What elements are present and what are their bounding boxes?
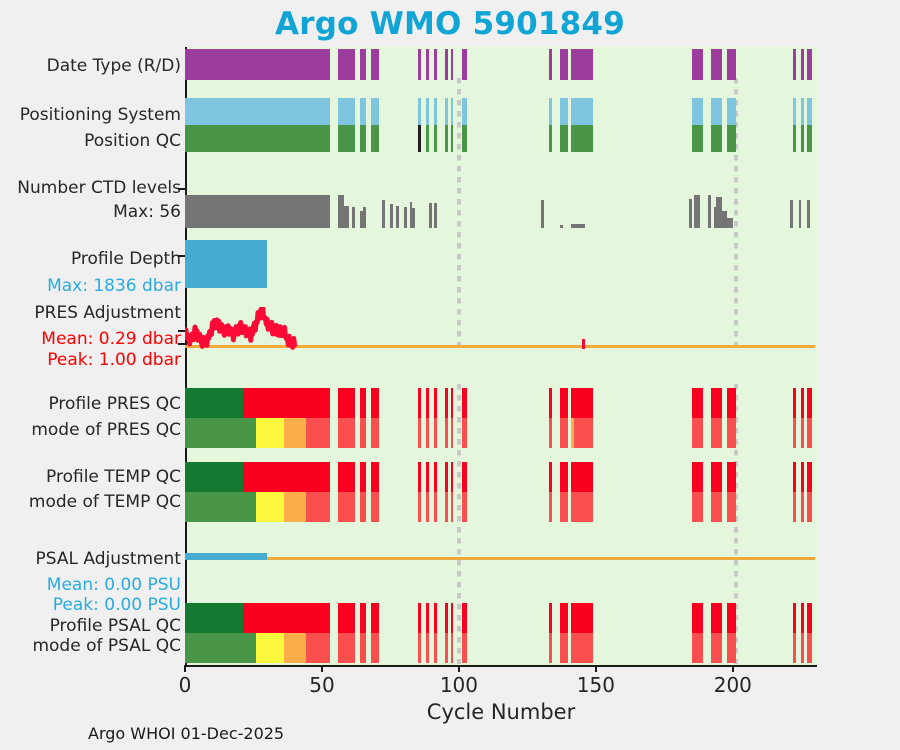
pres-qc-profile-bar (462, 388, 467, 418)
position-qc-bar (434, 125, 437, 152)
row-label-profile-pres-qc: Profile PRES QC (48, 394, 181, 414)
temp-qc-profile-bar (434, 462, 437, 492)
positioning-system-bar (549, 98, 552, 125)
psal-qc-profile-bar (560, 603, 568, 633)
psal-qc-profile-bar (711, 603, 722, 633)
row-label-mode-psal-qc: mode of PSAL QC (32, 636, 181, 656)
pres-qc-mode-bar (793, 418, 796, 448)
position-qc-bar (426, 125, 429, 152)
pres-qc-profile-bar (560, 388, 568, 418)
temp-qc-profile-bar (371, 462, 379, 492)
date-type-bar (371, 49, 379, 80)
psal-qc-profile-bar (451, 603, 454, 633)
psal-qc-profile-bar (338, 603, 354, 633)
row-label-mode-temp-qc: mode of TEMP QC (29, 492, 181, 512)
position-qc-bar (571, 125, 593, 152)
positioning-system-bar (801, 98, 804, 125)
position-qc-bar (451, 125, 454, 152)
temp-qc-profile-bar (185, 462, 243, 492)
positioning-system-bar (711, 98, 722, 125)
psal-qc-mode-bar (801, 633, 804, 663)
psal-qc-profile-bar (571, 603, 593, 633)
temp-qc-profile-bar (445, 462, 448, 492)
date-type-bar (692, 49, 703, 80)
pres-qc-mode-bar (549, 418, 552, 448)
positioning-system-bar (451, 98, 454, 125)
date-type-bar (418, 49, 421, 80)
ctd-levels-bar (344, 206, 349, 228)
temp-qc-mode-bar (434, 492, 437, 522)
date-type-bar (549, 49, 552, 80)
position-qc-bar (711, 125, 722, 152)
pres-qc-profile-bar (418, 388, 421, 418)
date-type-bar (434, 49, 437, 80)
row-label-pres-adjustment: PRES Adjustment (34, 303, 181, 323)
temp-qc-mode-bar (727, 492, 735, 522)
position-qc-bar (727, 125, 735, 152)
pres-qc-mode-bar (692, 418, 703, 448)
pres-qc-profile-bar (451, 388, 454, 418)
date-type-bar (451, 49, 454, 80)
x-tick (458, 665, 460, 672)
psal-qc-mode-bar (185, 633, 256, 663)
pres-qc-mode-bar (574, 418, 593, 448)
ctd-levels-bar (412, 208, 415, 228)
row-label-pres-peak: Peak: 1.00 dbar (47, 350, 181, 370)
date-type-bar (801, 49, 804, 80)
row-label-date-type: Date Type (R/D) (47, 56, 181, 76)
pres-qc-mode-bar (256, 418, 283, 448)
pres-qc-mode-bar (284, 418, 306, 448)
pres-qc-mode-bar (338, 418, 354, 448)
date-type-bar (462, 49, 467, 80)
position-qc-bar (801, 125, 804, 152)
psal-qc-mode-bar (284, 633, 306, 663)
date-type-bar (445, 49, 448, 80)
pres-qc-mode-bar (306, 418, 331, 448)
date-type-bar (727, 49, 735, 80)
temp-qc-profile-bar (338, 462, 354, 492)
psal-qc-mode-bar (434, 633, 437, 663)
pres-qc-mode-bar (807, 418, 812, 448)
psal-adjustment-trace (185, 553, 267, 560)
positioning-system-bar (560, 98, 568, 125)
pres-qc-mode-bar (727, 418, 735, 448)
temp-qc-profile-bar (462, 462, 467, 492)
x-tick-label: 200 (714, 673, 752, 697)
psal-qc-profile-bar (462, 603, 467, 633)
temp-qc-mode-bar (560, 492, 568, 522)
psal-qc-mode-bar (418, 633, 421, 663)
ctd-levels-bar (807, 200, 810, 228)
pres-qc-profile-bar (692, 388, 703, 418)
temp-qc-mode-bar (185, 492, 256, 522)
pres-qc-mode-bar (560, 418, 568, 448)
x-tick-label: 150 (577, 673, 615, 697)
temp-qc-profile-bar (360, 462, 365, 492)
psal-qc-profile-bar (807, 603, 812, 633)
position-qc-bar (462, 125, 467, 152)
temp-qc-profile-bar (426, 462, 429, 492)
date-type-bar (560, 49, 568, 80)
ctd-levels-bar (390, 204, 393, 229)
ctd-levels-bar (694, 195, 699, 228)
positioning-system-bar (692, 98, 703, 125)
pres-qc-profile-bar (727, 388, 735, 418)
ctd-levels-bar (396, 206, 399, 228)
ctd-levels-bar (799, 200, 802, 228)
pres-qc-profile-bar (371, 388, 379, 418)
temp-qc-profile-bar (560, 462, 568, 492)
psal-zero-line (185, 557, 815, 560)
pres-qc-profile-bar (434, 388, 437, 418)
positioning-system-bar (434, 98, 437, 125)
temp-qc-profile-bar (571, 462, 593, 492)
psal-qc-mode-bar (445, 633, 448, 663)
row-label-positioning-system: Positioning System (20, 105, 181, 125)
ctd-levels-bar (363, 207, 366, 228)
positioning-system-bar (571, 98, 593, 125)
temp-qc-profile-bar (793, 462, 796, 492)
positioning-system-bar (371, 98, 379, 125)
psal-qc-mode-bar (727, 633, 735, 663)
ctd-levels-bar (404, 207, 407, 228)
row-label-profile-depth-max: Max: 1836 dbar (47, 276, 181, 296)
psal-qc-mode-bar (692, 633, 703, 663)
temp-qc-mode-bar (451, 492, 454, 522)
guide-line-cycle-100-lower (457, 384, 461, 664)
ctd-levels-bar (571, 224, 585, 228)
x-tick (184, 665, 186, 672)
profile-depth-bar (185, 240, 267, 288)
temp-qc-mode-bar (549, 492, 552, 522)
x-tick-label: 0 (179, 673, 192, 697)
pres-qc-mode-bar (426, 418, 429, 448)
pres-qc-profile-bar (793, 388, 796, 418)
ctd-levels-bar (689, 199, 692, 228)
psal-qc-profile-bar (801, 603, 804, 633)
date-type-bar (338, 49, 354, 80)
row-label-psal-mean: Mean: 0.00 PSU (47, 575, 181, 595)
pres-qc-mode-bar (445, 418, 448, 448)
row-label-pres-mean: Mean: 0.29 dbar (41, 329, 181, 349)
positioning-system-bar (418, 98, 421, 125)
positioning-system-bar (445, 98, 448, 125)
temp-qc-mode-bar (306, 492, 331, 522)
date-type-bar (185, 49, 330, 80)
psal-qc-profile-bar (243, 603, 331, 633)
temp-qc-mode-bar (360, 492, 365, 522)
position-qc-bar (692, 125, 703, 152)
positioning-system-bar (727, 98, 735, 125)
date-type-bar (571, 49, 593, 80)
psal-qc-mode-bar (360, 633, 365, 663)
figure-canvas: Argo WMO 5901849 Date Type (R/D)Position… (0, 0, 900, 750)
temp-qc-profile-bar (418, 462, 421, 492)
psal-qc-profile-bar (426, 603, 429, 633)
x-axis-title: Cycle Number (185, 700, 817, 724)
pres-qc-profile-bar (571, 388, 593, 418)
psal-qc-mode-bar (462, 633, 467, 663)
positioning-system-bar (462, 98, 467, 125)
temp-qc-mode-bar (426, 492, 429, 522)
psal-qc-mode-bar (306, 633, 331, 663)
row-label-position-qc: Position QC (84, 131, 181, 151)
pres-qc-profile-bar (807, 388, 812, 418)
position-qc-bar (360, 125, 365, 152)
pres-adjustment-outlier (582, 339, 585, 349)
position-qc-bar (185, 125, 330, 152)
positioning-system-bar (807, 98, 812, 125)
row-label-psal-peak: Peak: 0.00 PSU (53, 595, 181, 615)
position-qc-bar (549, 125, 552, 152)
psal-qc-profile-bar (692, 603, 703, 633)
ctd-levels-bar (382, 200, 385, 228)
date-type-bar (807, 49, 812, 80)
pres-qc-profile-bar (801, 388, 804, 418)
pres-qc-profile-bar (185, 388, 243, 418)
psal-qc-mode-bar (256, 633, 283, 663)
figure-footer: Argo WHOI 01-Dec-2025 (88, 724, 284, 743)
temp-qc-profile-bar (801, 462, 804, 492)
ctd-levels-bar (790, 200, 793, 228)
date-type-bar (360, 49, 365, 80)
x-tick (321, 665, 323, 672)
pres-adjustment-trace (185, 307, 815, 377)
temp-qc-mode-bar (692, 492, 703, 522)
temp-qc-profile-bar (807, 462, 812, 492)
pres-qc-profile-bar (360, 388, 365, 418)
pres-qc-profile-bar (426, 388, 429, 418)
row-label-number-ctd-max: Max: 56 (113, 202, 181, 222)
position-qc-flag-bar (418, 125, 421, 152)
temp-qc-mode-bar (793, 492, 796, 522)
y-axis-tick (178, 188, 186, 190)
row-label-profile-temp-qc: Profile TEMP QC (46, 467, 181, 487)
positioning-system-bar (338, 98, 354, 125)
pres-qc-profile-bar (549, 388, 552, 418)
psal-qc-profile-bar (727, 603, 735, 633)
x-axis-line (185, 665, 817, 667)
temp-qc-profile-bar (692, 462, 703, 492)
temp-qc-profile-bar (549, 462, 552, 492)
temp-qc-mode-bar (338, 492, 354, 522)
psal-qc-profile-bar (418, 603, 421, 633)
pres-qc-mode-bar (360, 418, 365, 448)
temp-qc-mode-bar (462, 492, 467, 522)
pres-qc-mode-bar (711, 418, 722, 448)
row-label-profile-psal-qc: Profile PSAL QC (50, 616, 181, 636)
ctd-levels-bar (541, 200, 544, 228)
row-label-psal-adjustment: PSAL Adjustment (36, 549, 181, 569)
pres-qc-profile-bar (243, 388, 331, 418)
position-qc-bar (338, 125, 354, 152)
psal-qc-profile-bar (549, 603, 552, 633)
positioning-system-bar (185, 98, 330, 125)
psal-qc-profile-bar (445, 603, 448, 633)
ctd-levels-bar (560, 225, 563, 228)
positioning-system-bar (360, 98, 365, 125)
pres-qc-mode-bar (801, 418, 804, 448)
temp-qc-profile-bar (243, 462, 331, 492)
ctd-levels-bar (434, 203, 437, 228)
ctd-levels-bar (727, 218, 732, 229)
date-type-bar (793, 49, 796, 80)
positioning-system-bar (793, 98, 796, 125)
row-label-number-ctd-levels: Number CTD levels (17, 178, 181, 198)
pres-qc-profile-bar (711, 388, 722, 418)
temp-qc-mode-bar (574, 492, 593, 522)
temp-qc-mode-bar (711, 492, 722, 522)
psal-qc-mode-bar (338, 633, 354, 663)
psal-qc-mode-bar (807, 633, 812, 663)
psal-qc-mode-bar (793, 633, 796, 663)
date-type-bar (711, 49, 722, 80)
psal-qc-mode-bar (560, 633, 568, 663)
position-qc-bar (445, 125, 448, 152)
pres-qc-mode-bar (451, 418, 454, 448)
psal-qc-profile-bar (371, 603, 379, 633)
temp-qc-mode-bar (418, 492, 421, 522)
psal-qc-profile-bar (360, 603, 365, 633)
ctd-levels-bar (185, 195, 330, 228)
row-label-column: Date Type (R/D)Positioning SystemPositio… (0, 0, 181, 700)
pres-qc-mode-bar (185, 418, 256, 448)
temp-qc-mode-bar (445, 492, 448, 522)
date-type-bar (426, 49, 429, 80)
psal-qc-profile-bar (185, 603, 243, 633)
guide-line-cycle-100 (457, 78, 461, 346)
pres-qc-mode-bar (418, 418, 421, 448)
temp-qc-mode-bar (256, 492, 283, 522)
row-label-profile-depth: Profile Depth (71, 249, 181, 269)
positioning-system-bar (426, 98, 429, 125)
psal-qc-mode-bar (371, 633, 379, 663)
temp-qc-mode-bar (371, 492, 379, 522)
pres-qc-mode-bar (462, 418, 467, 448)
psal-qc-profile-bar (434, 603, 437, 633)
psal-qc-mode-bar (426, 633, 429, 663)
temp-qc-profile-bar (727, 462, 735, 492)
x-tick-label: 100 (440, 673, 478, 697)
position-qc-bar (807, 125, 812, 152)
x-tick (595, 665, 597, 672)
pres-qc-mode-bar (371, 418, 379, 448)
psal-qc-mode-bar (711, 633, 722, 663)
pres-qc-profile-bar (445, 388, 448, 418)
psal-qc-profile-bar (793, 603, 796, 633)
psal-qc-mode-bar (451, 633, 454, 663)
x-tick-label: 50 (309, 673, 334, 697)
temp-qc-profile-bar (451, 462, 454, 492)
temp-qc-mode-bar (801, 492, 804, 522)
position-qc-bar (560, 125, 568, 152)
ctd-levels-bar (708, 195, 711, 228)
x-tick (732, 665, 734, 672)
psal-qc-mode-bar (549, 633, 552, 663)
position-qc-bar (793, 125, 796, 152)
temp-qc-mode-bar (284, 492, 306, 522)
ctd-levels-bar (352, 207, 355, 228)
psal-qc-mode-bar (574, 633, 593, 663)
temp-qc-profile-bar (711, 462, 722, 492)
ctd-levels-bar (429, 203, 432, 228)
row-label-mode-pres-qc: mode of PRES QC (31, 420, 181, 440)
position-qc-bar (371, 125, 379, 152)
temp-qc-mode-bar (807, 492, 812, 522)
pres-qc-mode-bar (434, 418, 437, 448)
pres-qc-profile-bar (338, 388, 354, 418)
